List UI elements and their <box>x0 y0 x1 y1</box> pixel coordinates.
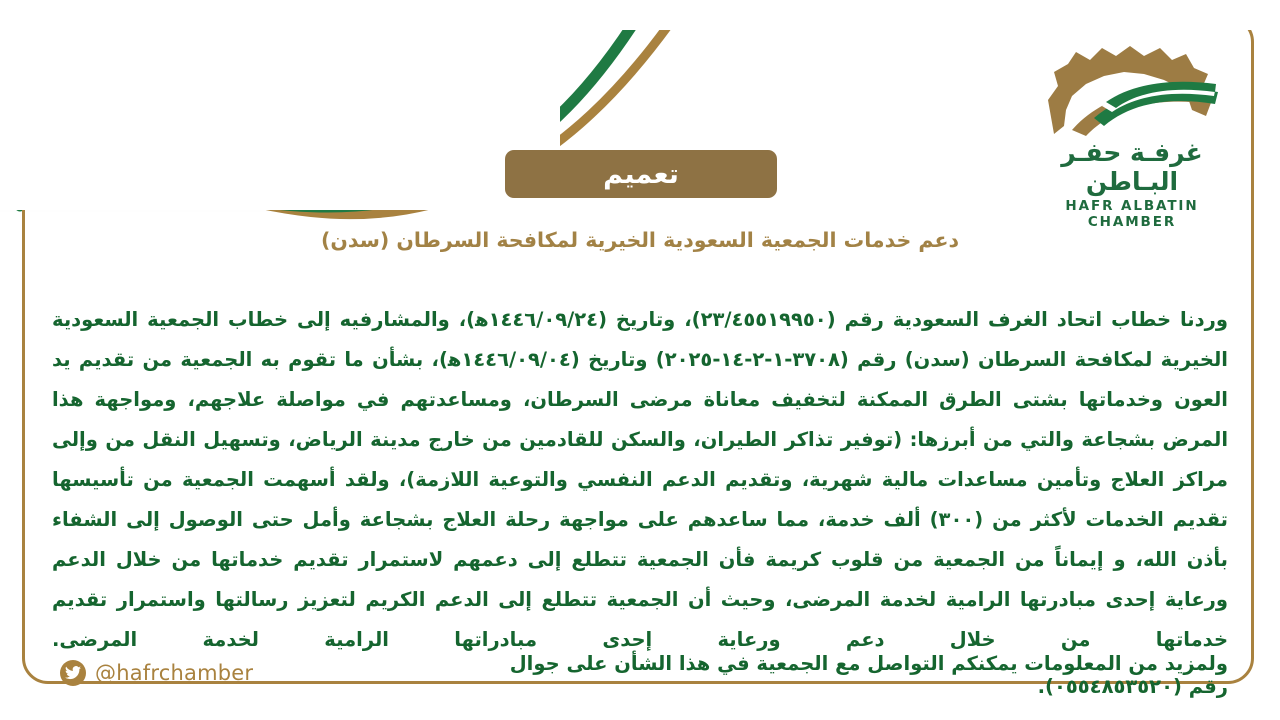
social-footer[interactable]: @hafrchamber <box>60 660 253 686</box>
twitter-handle[interactable]: @hafrchamber <box>95 661 253 685</box>
document-body: وردنا خطاب اتحاد الغرف السعودية رقم (٢٣/… <box>52 300 1228 660</box>
document-subtitle: دعم خدمات الجمعية السعودية الخيرية لمكاف… <box>0 228 1280 252</box>
logo-arabic-name: غرفـة حفـر البـاطن <box>1018 138 1246 196</box>
contact-line: ولمزيد من المعلومات يمكنكم التواصل مع ال… <box>488 652 1228 698</box>
logo-english-name: HAFR ALBATIN CHAMBER <box>1018 198 1246 230</box>
announcement-page: غرفـة حفـر البـاطن HAFR ALBATIN CHAMBER … <box>0 0 1280 720</box>
circular-banner: تعميم <box>505 150 777 198</box>
chamber-logo: غرفـة حفـر البـاطن HAFR ALBATIN CHAMBER <box>1018 38 1246 206</box>
chamber-logo-mark <box>1032 38 1232 142</box>
twitter-bird-icon[interactable] <box>60 660 86 686</box>
chamber-building-photo <box>0 8 470 213</box>
circular-banner-label: تعميم <box>603 159 679 190</box>
body-paragraph: وردنا خطاب اتحاد الغرف السعودية رقم (٢٣/… <box>52 300 1228 660</box>
